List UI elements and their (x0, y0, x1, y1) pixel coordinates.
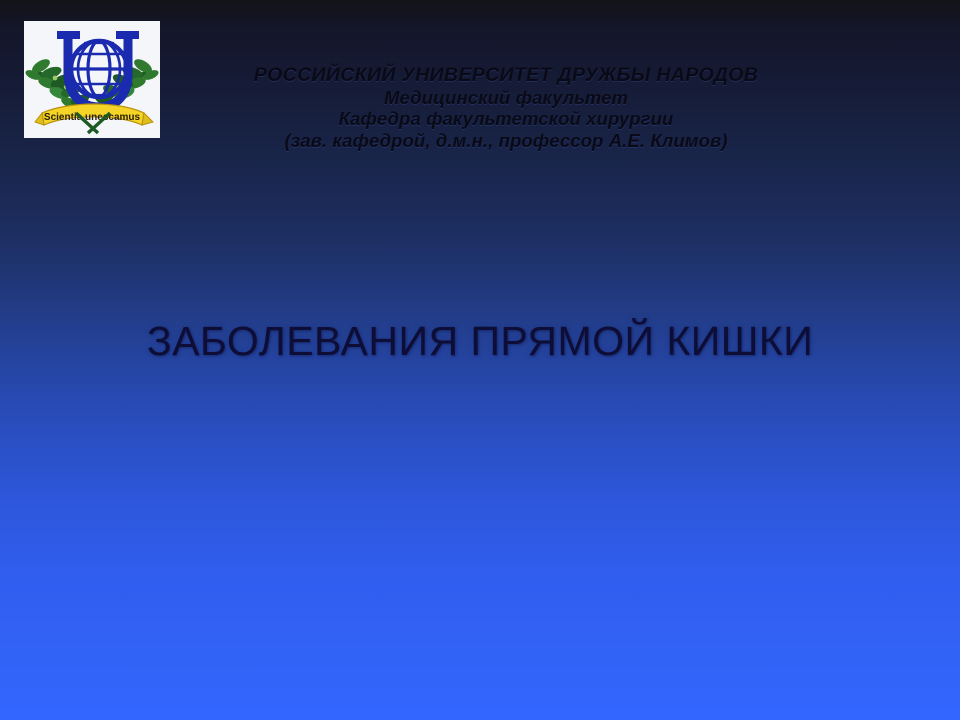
rudn-logo: Scientia unescamus (24, 21, 160, 138)
ribbon-text: Scientia unescamus (44, 112, 141, 123)
rudn-emblem-icon: Scientia unescamus (24, 21, 160, 138)
institution-header: РОССИЙСКИЙ УНИВЕРСИТЕТ ДРУЖБЫ НАРОДОВ Ме… (150, 64, 862, 152)
slide-title: ЗАБОЛЕВАНИЯ ПРЯМОЙ КИШКИ (0, 318, 960, 365)
department-name: Кафедра факультетской хирургии (150, 108, 862, 130)
department-head: (зав. кафедрой, д.м.н., профессор А.Е. К… (150, 130, 862, 152)
faculty-name: Медицинский факультет (150, 87, 862, 109)
university-name: РОССИЙСКИЙ УНИВЕРСИТЕТ ДРУЖБЫ НАРОДОВ (150, 64, 862, 87)
presentation-slide: Scientia unescamus РОССИЙСКИЙ УНИВЕРСИТЕ… (0, 0, 960, 720)
